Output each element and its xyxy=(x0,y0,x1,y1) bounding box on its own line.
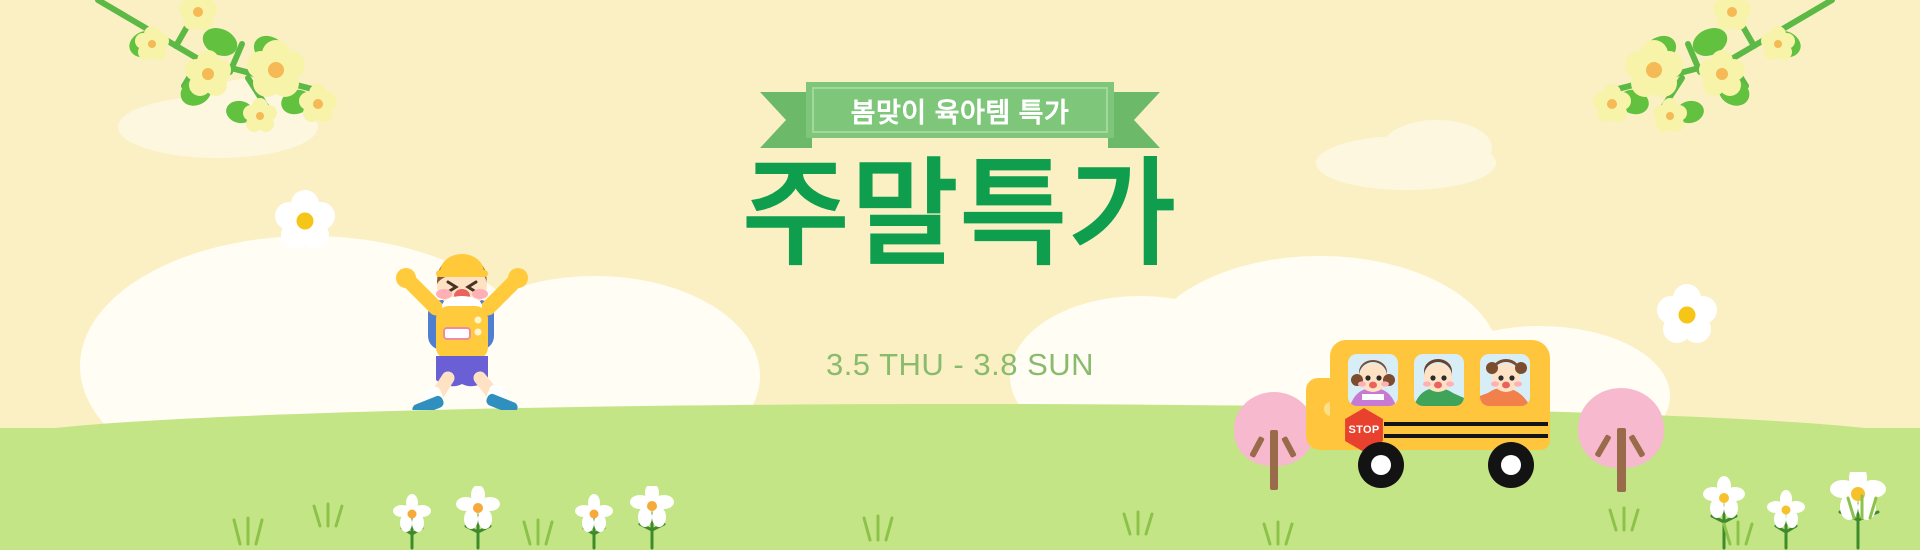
date-range-label: 3.5 THU - 3.8 SUN xyxy=(0,347,1920,383)
ribbon-label: 봄맞이 육아템 특가 xyxy=(851,91,1070,130)
ribbon-tail-right xyxy=(1108,92,1160,148)
bus-window xyxy=(1480,354,1530,406)
promo-ribbon: 봄맞이 육아템 특가 xyxy=(760,82,1160,138)
child-in-window-icon xyxy=(1348,354,1398,406)
bus-stripe xyxy=(1384,422,1548,426)
child-in-window-icon xyxy=(1480,354,1530,406)
page-title: 주말특가 xyxy=(0,152,1920,277)
jumping-child-illustration xyxy=(378,248,548,410)
stop-sign-label: STOP xyxy=(1349,424,1380,436)
flower-branch-left-icon xyxy=(80,0,340,134)
child-in-window-icon xyxy=(1414,354,1464,406)
bus-window xyxy=(1414,354,1464,406)
flower-branch-right-icon xyxy=(1590,0,1850,134)
floating-white-flower-right-icon xyxy=(1654,282,1720,348)
bus-window xyxy=(1348,354,1398,406)
bus-stripe xyxy=(1384,434,1548,438)
grass-tufts xyxy=(230,448,1920,548)
promo-banner: 봄맞이 육아템 특가 주말특가 3.5 THU - 3.8 SUN xyxy=(0,0,1920,550)
ribbon-band: 봄맞이 육아템 특가 xyxy=(806,82,1114,138)
